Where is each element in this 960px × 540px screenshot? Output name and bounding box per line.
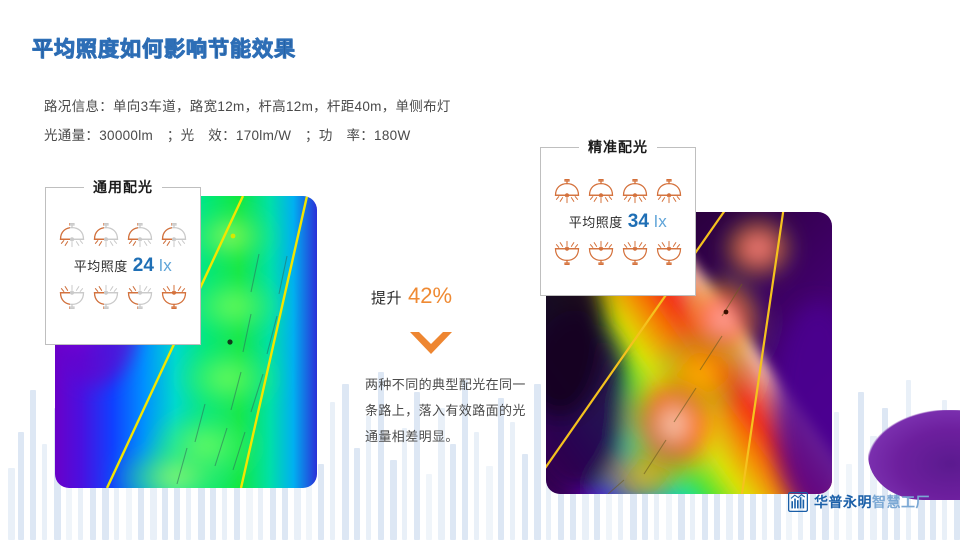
decorative-bar bbox=[450, 444, 456, 540]
brand-wordmark: 华普永明智慧工厂 bbox=[814, 492, 930, 512]
lamp-inverted-icon bbox=[586, 239, 616, 265]
card-precise-distribution: 平均照度 34 lx 精准配光 bbox=[540, 138, 696, 296]
lamp-inverted-icon bbox=[552, 239, 582, 265]
lamp-icon bbox=[654, 179, 684, 205]
lamp-inverted-icon bbox=[125, 283, 155, 309]
uplift-value: 42% bbox=[408, 283, 452, 309]
average-illuminance-value: 24 bbox=[133, 255, 154, 277]
spec-line-road: 路况信息：单向3车道，路宽12m，杆高12m，杆距40m，单侧布灯 bbox=[44, 95, 451, 115]
lamp-inverted-icon bbox=[654, 239, 684, 265]
lamp-icon bbox=[125, 223, 155, 249]
lamp-row-top bbox=[552, 179, 684, 205]
lamp-icon bbox=[57, 223, 87, 249]
lamp-icon bbox=[620, 179, 650, 205]
huapu-logo-mark-icon bbox=[788, 492, 808, 512]
decorative-bar bbox=[522, 454, 528, 540]
decorative-bar bbox=[834, 412, 839, 540]
chevron-down-icon bbox=[408, 330, 454, 361]
average-illuminance: 平均照度 34 lx bbox=[569, 211, 667, 233]
decorative-bar bbox=[318, 464, 324, 540]
card-general-distribution: 平均照度 24 lx 通用配光 bbox=[45, 178, 201, 345]
average-illuminance: 平均照度 24 lx bbox=[74, 255, 172, 277]
decorative-bar bbox=[342, 384, 349, 540]
decorative-bar bbox=[8, 468, 15, 540]
spec-line-lamp: 光通量：30000lm ；光 效：170lm/W ；功 率：180W bbox=[44, 124, 411, 144]
lamp-icon bbox=[586, 179, 616, 205]
lamp-icon bbox=[91, 223, 121, 249]
uplift-callout: 提升 42% bbox=[371, 283, 452, 309]
lamp-inverted-icon bbox=[57, 283, 87, 309]
card-body: 平均照度 34 lx bbox=[540, 147, 696, 296]
decorative-bar bbox=[330, 402, 335, 540]
card-body: 平均照度 24 lx bbox=[45, 187, 201, 345]
lamp-row-bottom bbox=[57, 283, 189, 309]
decorative-bar bbox=[426, 474, 432, 540]
slide-canvas: 平均照度如何影响节能效果 路况信息：单向3车道，路宽12m，杆高12m，杆距40… bbox=[0, 0, 960, 540]
average-illuminance-value: 34 bbox=[628, 211, 649, 233]
average-illuminance-unit: lx bbox=[159, 256, 172, 276]
decorative-bar bbox=[486, 466, 493, 540]
average-illuminance-label: 平均照度 bbox=[569, 212, 623, 231]
lamp-icon bbox=[159, 223, 189, 249]
lamp-inverted-icon bbox=[91, 283, 121, 309]
comparison-description: 两种不同的典型配光在同一条路上，落入有效路面的光通量相差明显。 bbox=[365, 372, 537, 450]
lamp-inverted-icon bbox=[620, 239, 650, 265]
lamp-inverted-icon bbox=[159, 283, 189, 309]
decorative-bar bbox=[42, 444, 47, 540]
card-title: 精准配光 bbox=[579, 138, 657, 156]
decorative-bar bbox=[858, 392, 864, 540]
page-title: 平均照度如何影响节能效果 bbox=[32, 33, 296, 63]
lamp-icon bbox=[552, 179, 582, 205]
average-illuminance-label: 平均照度 bbox=[74, 256, 128, 275]
decorative-bar bbox=[390, 460, 397, 540]
decorative-bar bbox=[30, 390, 36, 540]
uplift-label: 提升 bbox=[371, 287, 402, 308]
lamp-row-top bbox=[57, 223, 189, 249]
decorative-bar bbox=[354, 448, 360, 540]
lamp-row-bottom bbox=[552, 239, 684, 265]
decorative-bar bbox=[18, 432, 24, 540]
average-illuminance-unit: lx bbox=[654, 212, 667, 232]
brand-logo: 华普永明智慧工厂 bbox=[788, 492, 930, 512]
decorative-bar bbox=[66, 482, 72, 540]
card-title: 通用配光 bbox=[84, 178, 162, 196]
